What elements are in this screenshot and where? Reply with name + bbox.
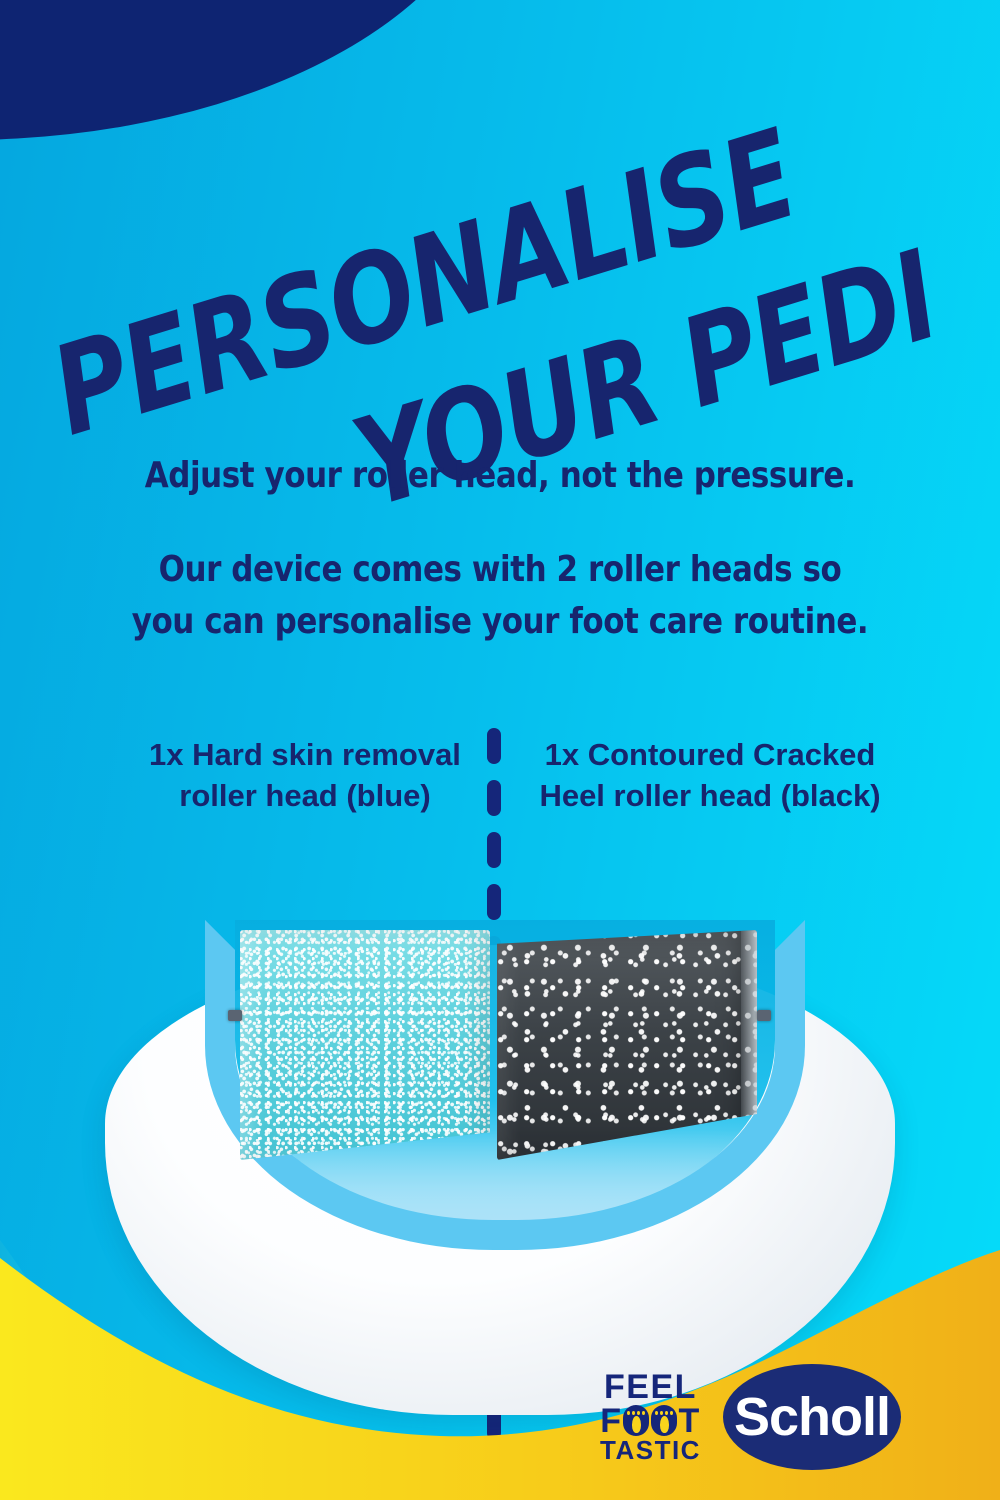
copy-line-2-3: Our device comes with 2 roller heads so … (70, 544, 930, 646)
feel-text: FEEL (604, 1371, 697, 1403)
foot-text: F T (600, 1405, 701, 1437)
feel-foot-tastic-logo: FEEL F T TASTIC (600, 1371, 701, 1462)
copy-line-2: Our device comes with 2 roller heads so (70, 544, 930, 595)
tastic-text: TASTIC (600, 1438, 701, 1463)
blue-hard-skin-roller (240, 930, 490, 1160)
sole-shape (660, 1416, 669, 1433)
label-hard-skin-roller: 1x Hard skin removal roller head (blue) (130, 735, 480, 817)
roller-pin-right (757, 1010, 771, 1021)
footprint-icon (651, 1405, 677, 1436)
body-copy: Adjust your roller head, not the pressur… (0, 455, 1000, 647)
product-marketing-poster: YEARS OF EXPERTISE PERSONALISE YOUR PEDI… (0, 0, 1000, 1500)
label-cracked-heel-roller: 1x Contoured Cracked Heel roller head (b… (510, 735, 910, 817)
scholl-logo: Scholl (723, 1364, 901, 1470)
expertise-badge: YEARS OF EXPERTISE (0, 0, 500, 140)
scholl-wordmark: Scholl (734, 1386, 890, 1448)
roller-pin-left (228, 1010, 242, 1021)
sole-shape (632, 1416, 641, 1433)
foot-letter-f: F (600, 1405, 622, 1437)
footprint-icon (623, 1405, 649, 1436)
bottom-logos: FEEL F T TASTIC Scholl (600, 1352, 980, 1482)
headline-block: PERSONALISE YOUR PEDI (0, 120, 1000, 420)
copy-line-1: Adjust your roller head, not the pressur… (70, 455, 930, 496)
copy-line-3: you can personalise your foot care routi… (70, 596, 930, 647)
foot-letter-t: T (678, 1405, 700, 1437)
headline-line-1: PERSONALISE (41, 118, 807, 450)
